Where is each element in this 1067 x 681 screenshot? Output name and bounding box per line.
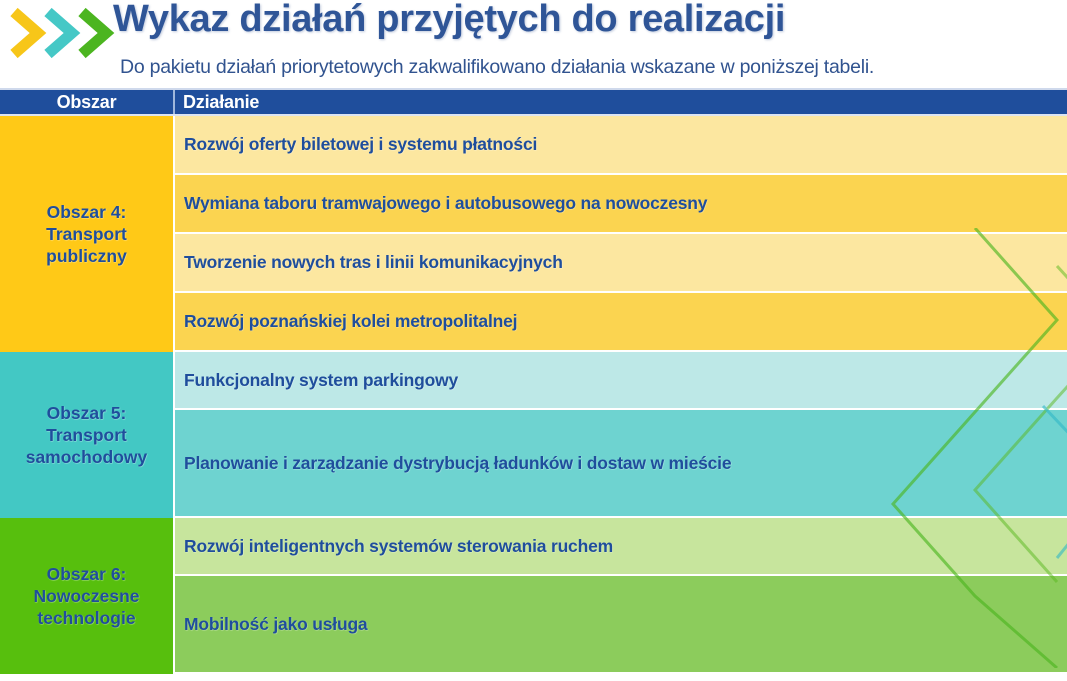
chevron-teal-icon bbox=[48, 12, 72, 54]
column-header-action: Działanie bbox=[175, 90, 1067, 114]
group-label-obszar-5: Obszar 5: Transport samochodowy bbox=[0, 352, 175, 518]
group-rows-obszar-5: Funkcjonalny system parkingowy Planowani… bbox=[175, 352, 1067, 518]
table-row[interactable]: Rozwój poznańskiej kolei metropolitalnej bbox=[175, 293, 1067, 352]
group-label-line2: Nowoczesne bbox=[34, 586, 140, 606]
table-row[interactable]: Funkcjonalny system parkingowy bbox=[175, 352, 1067, 410]
group-label-line1: Obszar 6: bbox=[47, 564, 127, 584]
group-label-line3: technologie bbox=[37, 608, 135, 628]
table-row[interactable]: Mobilność jako usługa bbox=[175, 576, 1067, 674]
table-row[interactable]: Rozwój oferty biletowej i systemu płatno… bbox=[175, 116, 1067, 175]
table-header-row: Obszar Działanie bbox=[0, 88, 1067, 116]
slide-header: Wykaz działań przyjętych do realizacji D… bbox=[0, 0, 1067, 88]
group-label-line2: Transport bbox=[46, 224, 127, 244]
group-label-line1: Obszar 5: bbox=[47, 403, 127, 423]
table-group-obszar-5: Obszar 5: Transport samochodowy Funkcjon… bbox=[0, 352, 1067, 518]
group-label-obszar-6: Obszar 6: Nowoczesne technologie bbox=[0, 518, 175, 674]
group-label-line3: publiczny bbox=[46, 246, 127, 266]
page-subtitle: Do pakietu działań priorytetowych zakwal… bbox=[120, 56, 874, 79]
action-table: Obszar Działanie Obszar 4: Transport pub… bbox=[0, 88, 1067, 681]
group-label-line1: Obszar 4: bbox=[47, 202, 127, 222]
table-group-obszar-4: Obszar 4: Transport publiczny Rozwój ofe… bbox=[0, 116, 1067, 352]
table-row[interactable]: Tworzenie nowych tras i linii komunikacy… bbox=[175, 234, 1067, 293]
column-header-area: Obszar bbox=[0, 90, 175, 114]
table-row[interactable]: Planowanie i zarządzanie dystrybucją ład… bbox=[175, 410, 1067, 518]
group-rows-obszar-4: Rozwój oferty biletowej i systemu płatno… bbox=[175, 116, 1067, 352]
group-label-line3: samochodowy bbox=[26, 447, 148, 467]
logo-chevrons bbox=[4, 6, 116, 60]
table-group-obszar-6: Obszar 6: Nowoczesne technologie Rozwój … bbox=[0, 518, 1067, 674]
chevron-yellow-icon bbox=[14, 12, 38, 54]
chevron-green-icon bbox=[82, 12, 106, 54]
table-row[interactable]: Rozwój inteligentnych systemów sterowani… bbox=[175, 518, 1067, 576]
table-row[interactable]: Wymiana taboru tramwajowego i autobusowe… bbox=[175, 175, 1067, 234]
group-rows-obszar-6: Rozwój inteligentnych systemów sterowani… bbox=[175, 518, 1067, 674]
page-title: Wykaz działań przyjętych do realizacji bbox=[113, 0, 785, 41]
group-label-obszar-4: Obszar 4: Transport publiczny bbox=[0, 116, 175, 352]
group-label-line2: Transport bbox=[46, 425, 127, 445]
